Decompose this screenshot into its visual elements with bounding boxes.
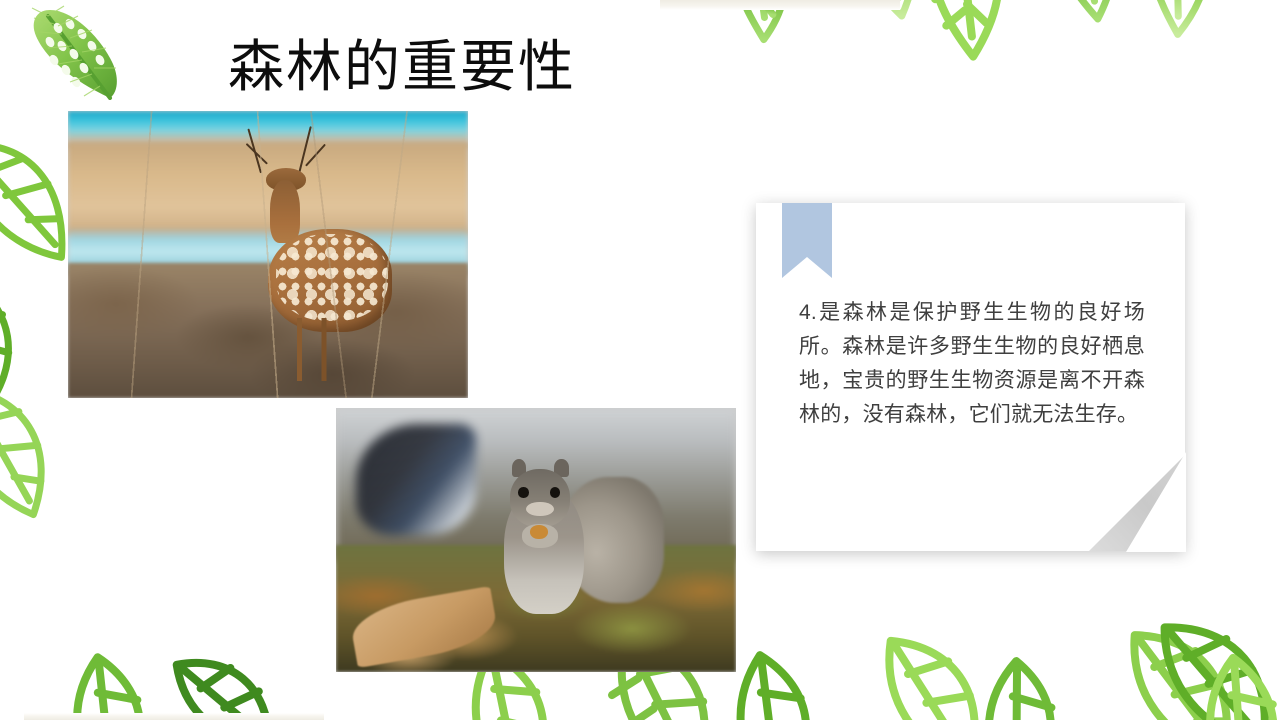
leaf-cluster-bottom-right bbox=[1020, 620, 1280, 720]
leaf-cluster-top-right bbox=[650, 0, 1280, 112]
squirrel-eye bbox=[550, 487, 560, 498]
slide-canvas: 森林的重要性 4.是森林是保护野生生物的良好场所 bbox=[0, 0, 1280, 720]
squirrel-nut bbox=[530, 525, 548, 538]
bookmark-ribbon-icon bbox=[782, 203, 832, 278]
top-paper-strip bbox=[660, 0, 900, 10]
squirrel-muzzle bbox=[526, 502, 554, 517]
note-body-text: 4.是森林是保护野生生物的良好场所。森林是许多野生生物的良好栖息地，宝贵的野生生… bbox=[799, 296, 1145, 432]
bottom-paper-strip bbox=[24, 713, 324, 720]
page-title: 森林的重要性 bbox=[228, 36, 576, 100]
deer-photo bbox=[68, 111, 468, 398]
deer-photo-stalks bbox=[68, 111, 468, 398]
magpie-bird bbox=[356, 424, 476, 535]
squirrel-eye bbox=[518, 487, 528, 498]
note-card: 4.是森林是保护野生生物的良好场所。森林是许多野生生物的良好栖息地，宝贵的野生生… bbox=[756, 203, 1185, 551]
squirrel-photo bbox=[336, 408, 736, 672]
squirrel-head bbox=[510, 469, 570, 527]
feather-icon bbox=[14, 2, 134, 106]
page-curl-mask bbox=[1086, 452, 1186, 552]
